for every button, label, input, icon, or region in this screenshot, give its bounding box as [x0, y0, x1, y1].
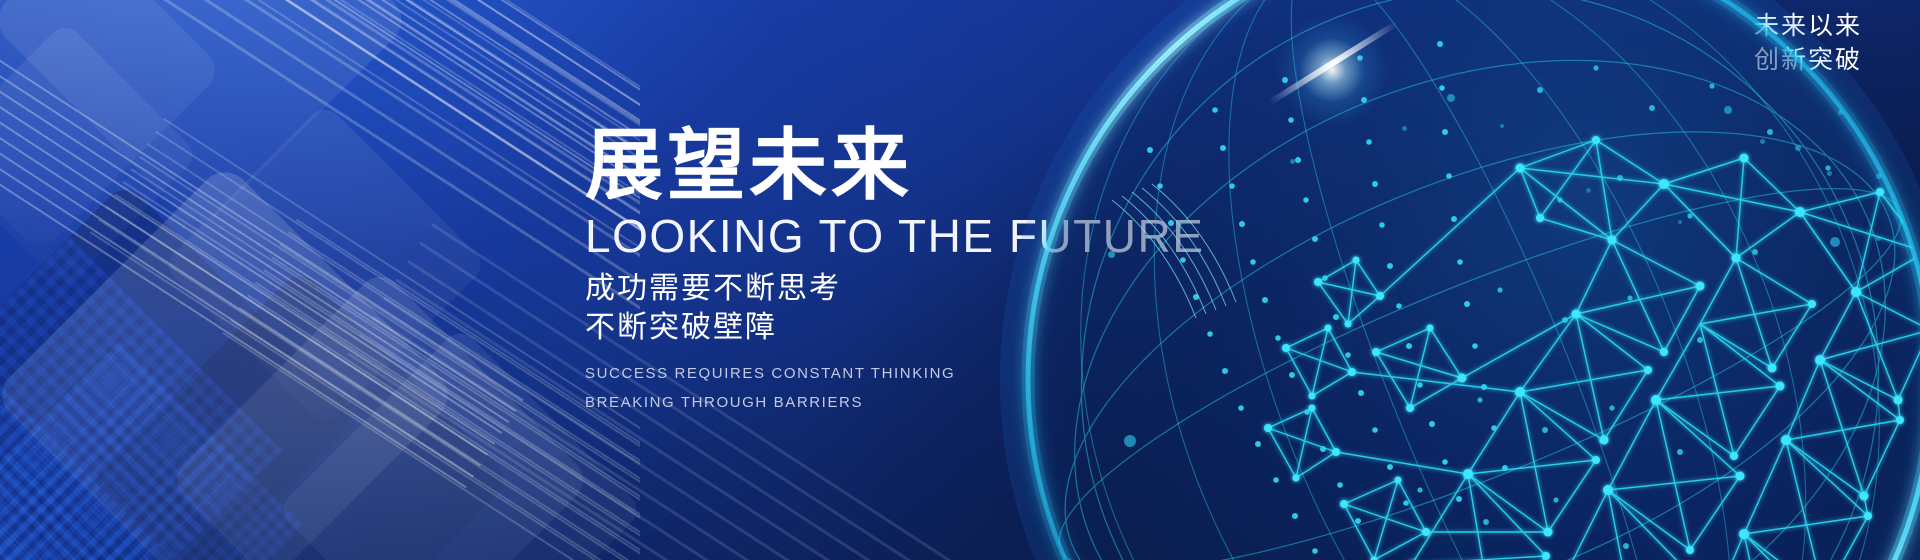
floating-dot	[1290, 159, 1295, 164]
subtitle-en-line-1: SUCCESS REQUIRES CONSTANT THINKING	[585, 359, 1225, 388]
floating-dot	[1108, 251, 1115, 258]
page-title-cn: 展望未来	[585, 126, 1225, 204]
globe-limb-sparkle	[1272, 10, 1392, 130]
floating-dot	[1830, 237, 1840, 247]
subtitle-cn-line-1: 成功需要不断思考	[585, 270, 1225, 308]
floating-dot	[1795, 145, 1801, 151]
corner-tagline-line-1: 未来以来	[1754, 10, 1862, 44]
floating-dot	[1876, 173, 1882, 179]
globe-limb-sparkle-streak	[1268, 21, 1398, 106]
corner-tagline: 未来以来 创新突破	[1754, 10, 1862, 77]
floating-dot	[1876, 236, 1881, 241]
subtitle-en-line-2: BREAKING THROUGH BARRIERS	[585, 388, 1225, 417]
subtitle-cn-line-2: 不断突破壁障	[585, 309, 1225, 347]
floating-dot	[1447, 94, 1455, 102]
floating-dot	[1500, 124, 1504, 128]
floating-dot	[1586, 188, 1591, 193]
floating-dot	[1724, 106, 1732, 114]
subtitle-en-block: SUCCESS REQUIRES CONSTANT THINKING BREAK…	[585, 359, 1225, 418]
floating-dot	[1838, 110, 1843, 115]
banner-root: 展望未来 LOOKING TO THE FUTURE 成功需要不断思考 不断突破…	[0, 0, 1920, 560]
floating-dot	[1124, 435, 1136, 447]
page-title-en: LOOKING TO THE FUTURE	[585, 212, 1225, 260]
floating-dot	[1678, 220, 1682, 224]
floating-dot	[1827, 171, 1832, 176]
floating-dot	[1402, 126, 1407, 131]
floating-dot	[1760, 139, 1765, 144]
corner-tagline-line-2: 创新突破	[1754, 44, 1862, 78]
headline-block: 展望未来 LOOKING TO THE FUTURE 成功需要不断思考 不断突破…	[585, 126, 1225, 418]
